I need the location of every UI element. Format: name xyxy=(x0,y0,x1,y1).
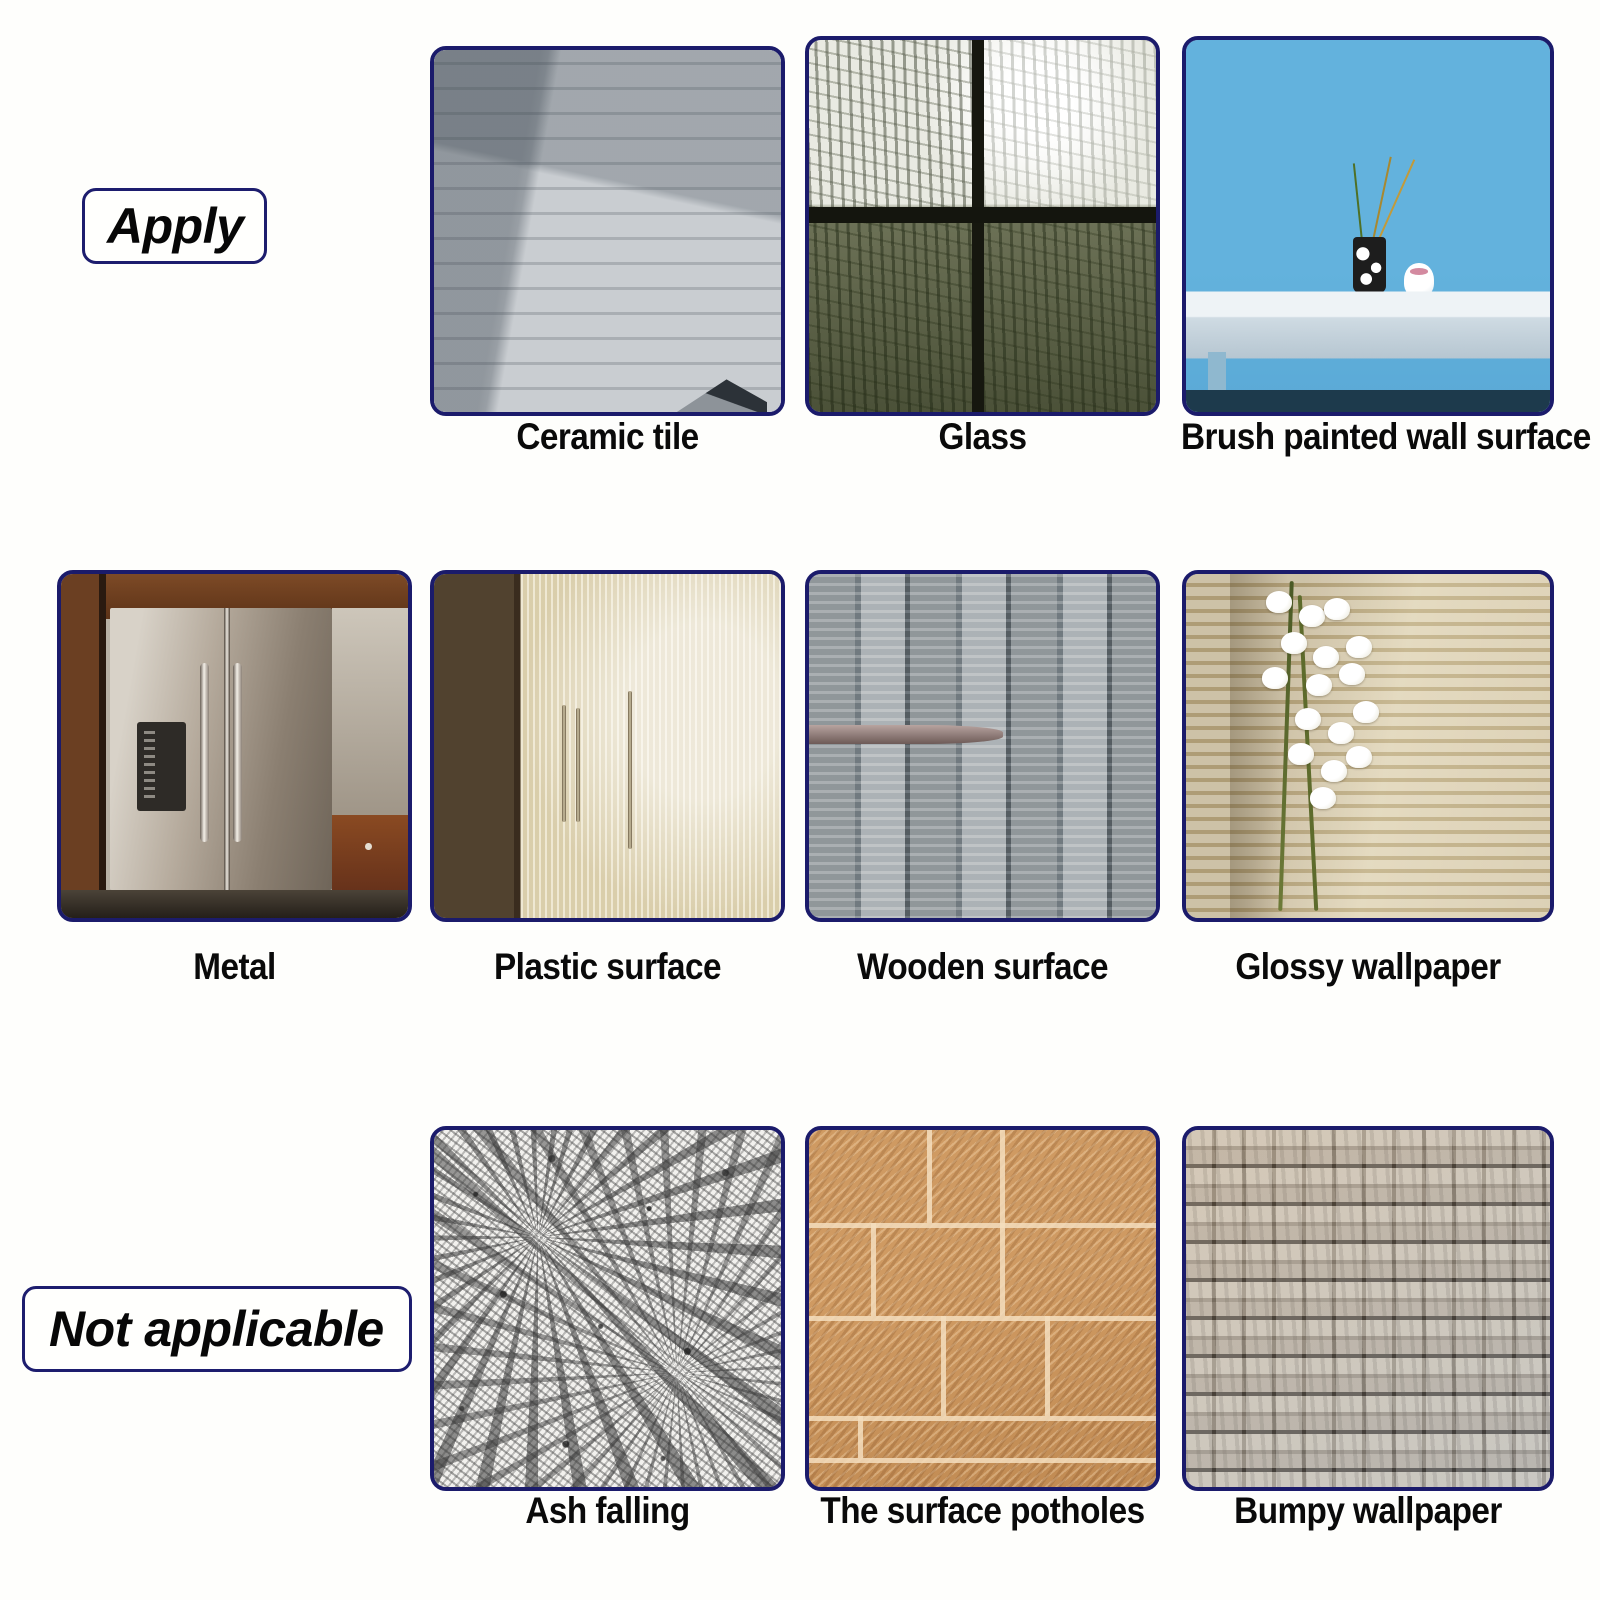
tile-ceramic-tile xyxy=(430,46,785,416)
ceramic-tile-image xyxy=(434,50,781,412)
caption-glossy-wallpaper: Glossy wallpaper xyxy=(1201,948,1536,985)
caption-ash-falling: Ash falling xyxy=(448,1492,768,1529)
not-applicable-label-box: Not applicable xyxy=(22,1286,412,1372)
plastic-surface-image xyxy=(434,574,781,918)
caption-metal: Metal xyxy=(75,948,395,985)
glass-image xyxy=(809,40,1156,412)
infographic-sheet: Apply Ceramic tile Glass Brush painted w… xyxy=(0,0,1600,1600)
tile-the-surface-potholes xyxy=(805,1126,1160,1491)
brush-painted-wall-image xyxy=(1186,40,1550,412)
tile-glass xyxy=(805,36,1160,416)
ash-falling-image xyxy=(434,1130,781,1487)
wooden-surface-image xyxy=(809,574,1156,918)
tile-plastic-surface xyxy=(430,570,785,922)
apply-label-box: Apply xyxy=(82,188,267,264)
tile-ash-falling xyxy=(430,1126,785,1491)
tile-bumpy-wallpaper xyxy=(1182,1126,1554,1491)
tile-metal xyxy=(57,570,412,922)
caption-glass: Glass xyxy=(823,418,1143,455)
not-applicable-label-text: Not applicable xyxy=(49,1300,384,1358)
caption-plastic-surface: Plastic surface xyxy=(448,948,768,985)
caption-bumpy-wallpaper: Bumpy wallpaper xyxy=(1201,1492,1536,1529)
bumpy-wallpaper-image xyxy=(1186,1130,1550,1487)
caption-wooden-surface: Wooden surface xyxy=(823,948,1143,985)
caption-brush-painted-wall-surface: Brush painted wall surface xyxy=(1181,418,1559,455)
caption-ceramic-tile: Ceramic tile xyxy=(448,418,768,455)
tile-glossy-wallpaper xyxy=(1182,570,1554,922)
surface-potholes-image xyxy=(809,1130,1156,1487)
tile-brush-painted-wall-surface xyxy=(1182,36,1554,416)
caption-the-surface-potholes: The surface potholes xyxy=(809,1492,1156,1529)
glossy-wallpaper-image xyxy=(1186,574,1550,918)
metal-image xyxy=(61,574,408,918)
apply-label-text: Apply xyxy=(107,197,243,255)
tile-wooden-surface xyxy=(805,570,1160,922)
